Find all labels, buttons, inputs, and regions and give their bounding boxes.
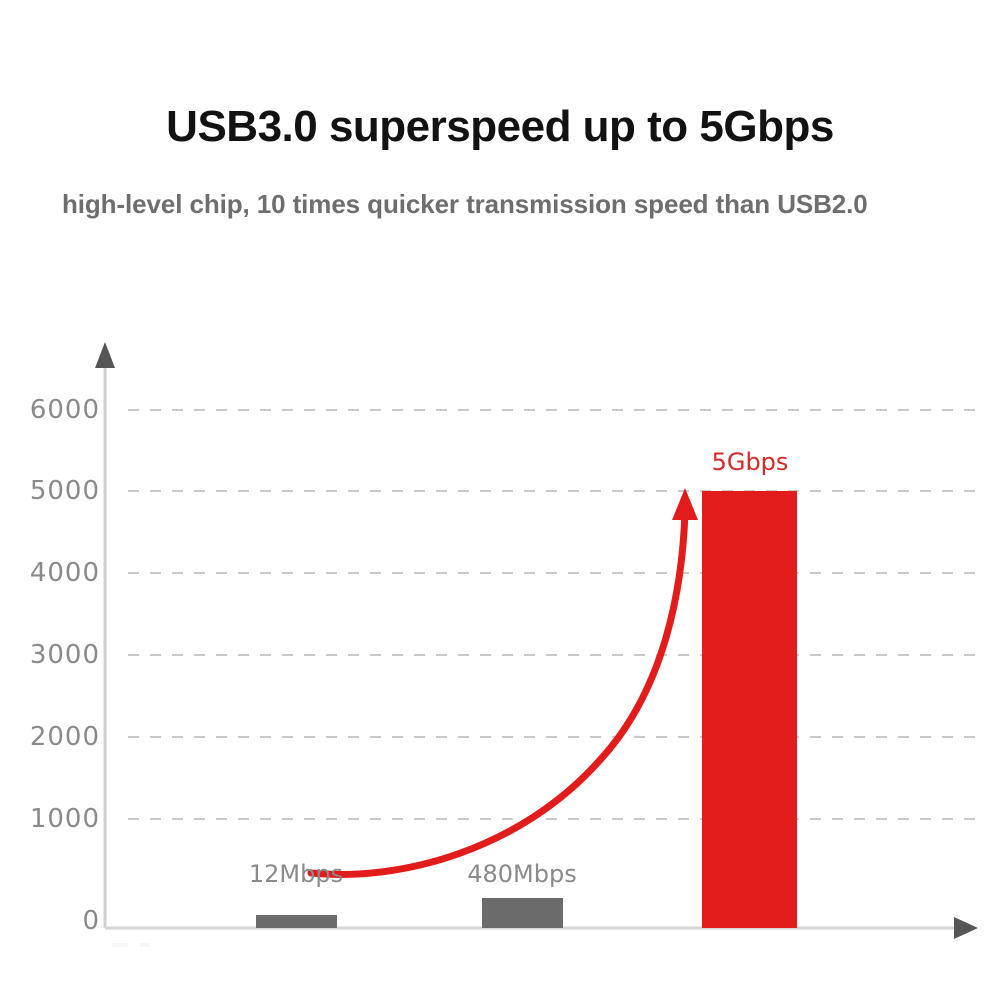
- growth-curve: [311, 512, 685, 874]
- y-tick-4000: 4000: [0, 560, 100, 586]
- y-tick-labels: 6000 5000 4000 3000 2000 1000 0: [0, 0, 100, 1000]
- chart-canvas: [0, 0, 1000, 1000]
- gridlines: [128, 410, 982, 819]
- bar-usb1[interactable]: [256, 915, 337, 928]
- y-tick-2000: 2000: [0, 724, 100, 750]
- baseline-artifacts: [112, 943, 150, 947]
- bar-usb2[interactable]: [482, 898, 563, 928]
- growth-curve-arrowhead: [672, 488, 698, 520]
- growth-curve-annotation: [311, 488, 698, 874]
- bar-label-usb2: 480Mbps: [442, 862, 602, 886]
- bar-label-usb1: 12Mbps: [216, 862, 376, 886]
- y-tick-1000: 1000: [0, 806, 100, 832]
- y-tick-0: 0: [0, 908, 100, 934]
- artifact-mark-1: [112, 943, 128, 947]
- y-tick-3000: 3000: [0, 642, 100, 668]
- bar-usb3[interactable]: [702, 491, 797, 928]
- artifact-mark-2: [140, 943, 150, 947]
- y-tick-5000: 5000: [0, 478, 100, 504]
- infographic-root: USB3.0 superspeed up to 5Gbps high-level…: [0, 0, 1000, 1000]
- y-tick-6000: 6000: [0, 397, 100, 423]
- bar-label-usb3: 5Gbps: [670, 450, 830, 474]
- right-arrow-icon: [954, 917, 978, 939]
- bar-chart: 6000 5000 4000 3000 2000 1000 0 12Mbps 4…: [0, 0, 1000, 1000]
